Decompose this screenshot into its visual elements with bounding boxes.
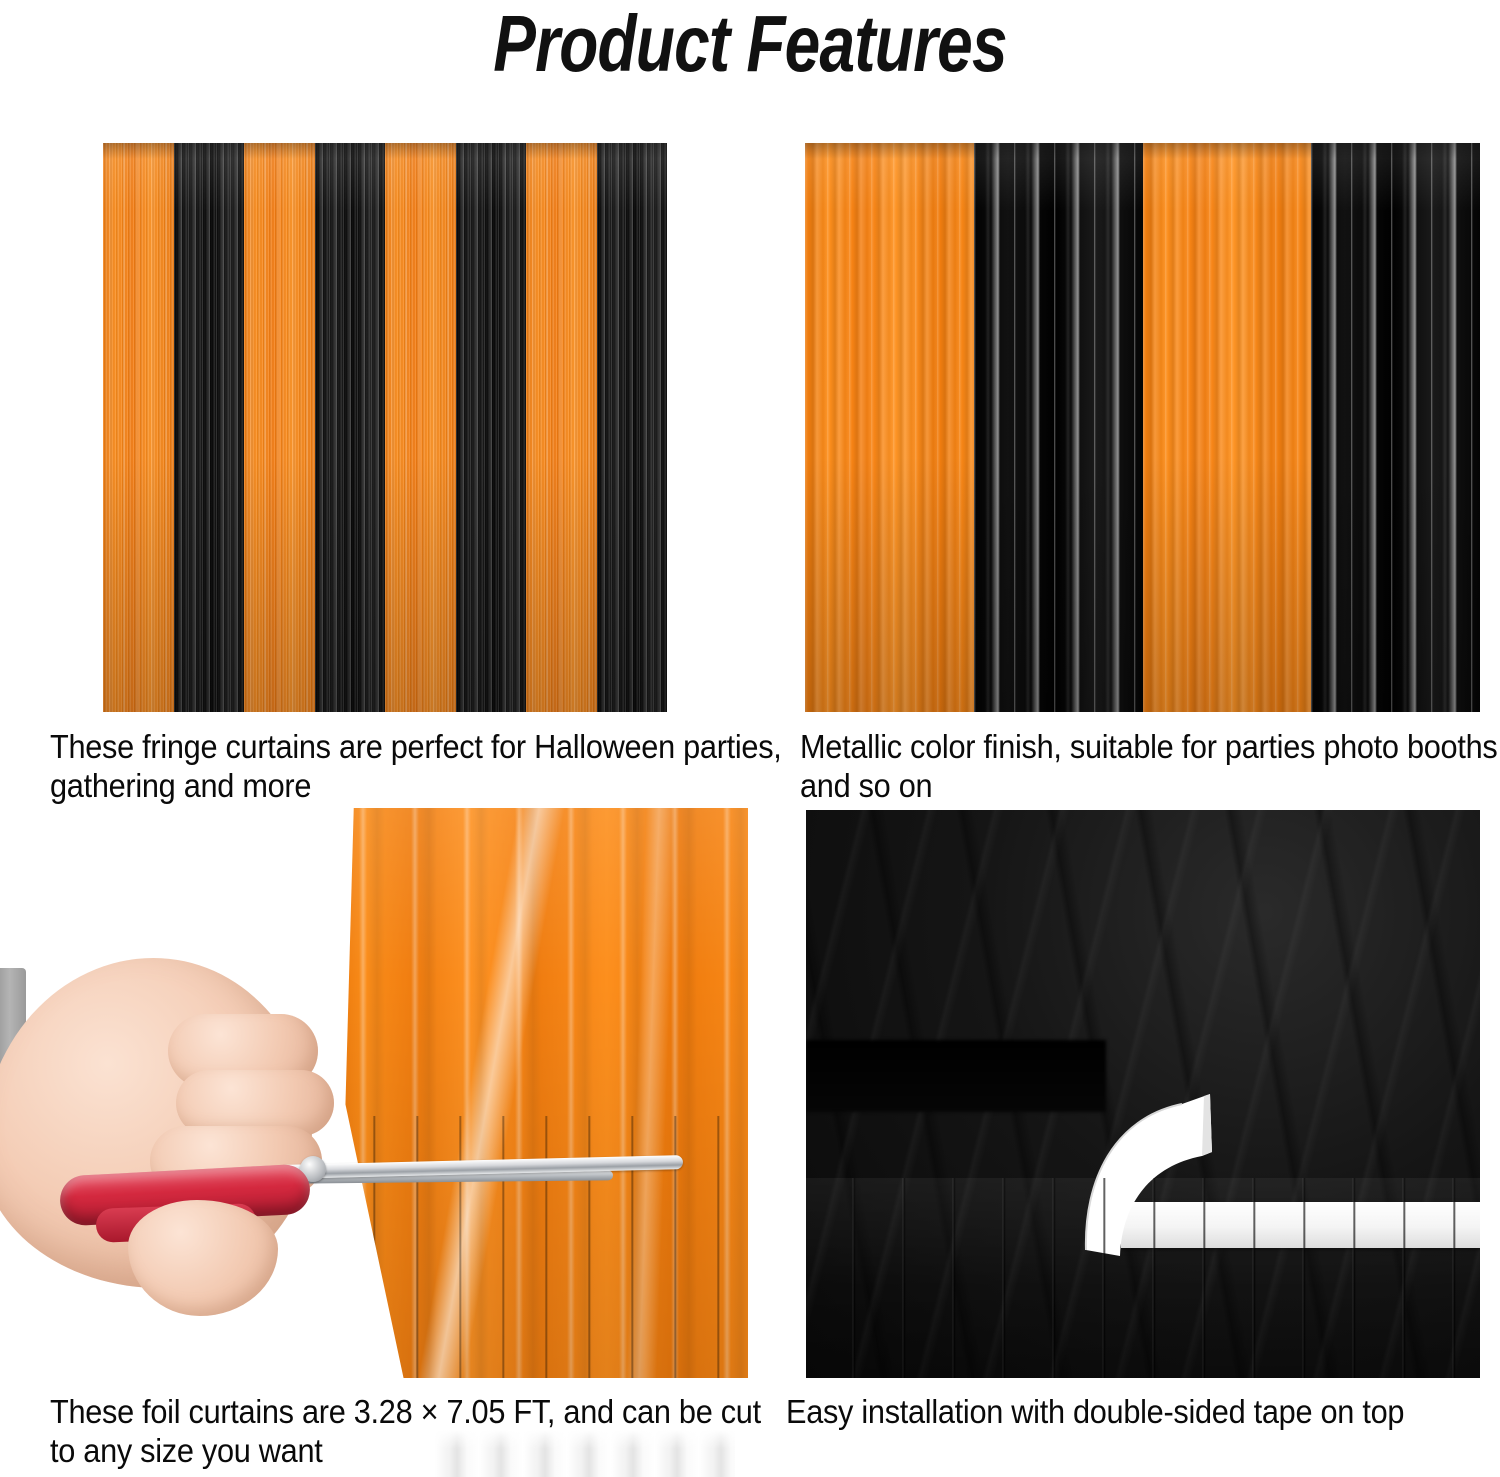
page-title: Product Features [150,2,1350,86]
fringe-curtain-graphic [103,143,667,712]
feature-image-cut-to-size [0,808,748,1378]
feature-image-easy-installation [806,810,1480,1378]
feature-caption-easy-installation: Easy installation with double-sided tape… [786,1393,1500,1432]
feature-image-metallic-finish [805,143,1480,712]
feature-caption-metallic-finish: Metallic color finish, suitable for part… [800,728,1500,806]
silver-curtain-sliver [435,1430,735,1477]
metallic-curtain-graphic [805,143,1480,712]
feature-image-halloween-party [103,143,667,712]
feature-caption-halloween-party: These fringe curtains are perfect for Ha… [50,728,794,806]
curtain-dark-fold [806,1040,1106,1112]
fringe-shading [806,1178,1480,1378]
thumb [128,1200,278,1316]
orange-foil-sheet [333,808,748,1378]
